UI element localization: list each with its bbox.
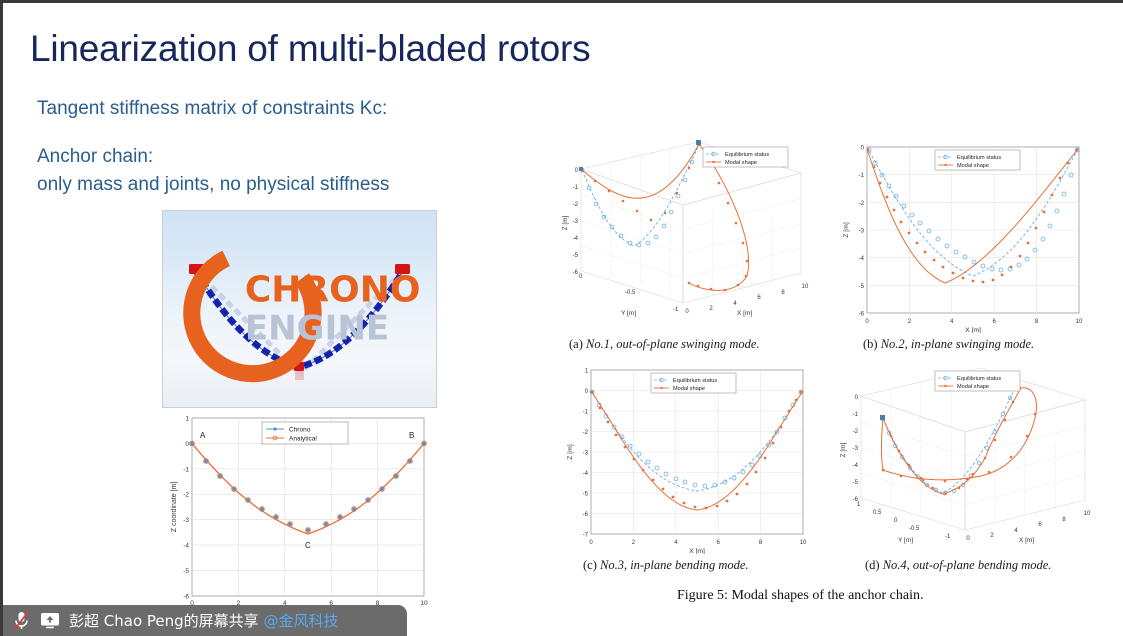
svg-text:-5: -5 [853,480,859,486]
screenshare-handle: @金风科技 [263,612,338,630]
svg-text:Chrono: Chrono [289,427,311,434]
subfigure-d-caption: (d) No.4, out-of-plane bending mode. [865,558,1051,573]
subfigure-a-legend: Equilibrium status Modal shape [703,147,788,167]
svg-text:8: 8 [1035,319,1039,325]
x-axis-label: X [m] [1019,537,1034,544]
svg-text:6: 6 [717,540,721,546]
svg-text:Equilibrium status: Equilibrium status [957,155,1001,161]
svg-text:0: 0 [685,309,689,315]
svg-text:-1: -1 [183,466,189,473]
subfigure-d-legend: Equilibrium status Modal shape [935,371,1020,391]
svg-text:2: 2 [908,319,912,325]
svg-text:0: 0 [865,319,869,325]
svg-text:6: 6 [757,295,761,301]
svg-text:-4: -4 [573,236,579,242]
svg-text:-4: -4 [853,463,859,469]
svg-text:-0.5: -0.5 [625,290,636,296]
figure-caption: Figure 5: Modal shapes of the anchor cha… [677,588,924,604]
svg-text:Equilibrium status: Equilibrium status [957,376,1001,382]
svg-text:CHRONO: CHRONO [245,270,421,311]
svg-text:Equilibrium status: Equilibrium status [725,152,769,158]
subfigure-c-caption: (c) No.3, in-plane bending mode. [583,558,749,573]
svg-text:Modal shape: Modal shape [673,386,705,392]
chrono-logo-icon: CHRONO ENGINE [169,215,437,408]
svg-text:Equilibrium status: Equilibrium status [673,378,717,384]
svg-text:2: 2 [709,306,713,312]
svg-text:-3: -3 [583,451,589,457]
subfigure-b-plot: 0-1-2 -3-4-5 -6 024 6810 X [m] Z [m] Equ… [835,133,1107,333]
x-axis-label: X [m] [965,327,981,333]
subfigure-a-caption-text: No.1, out-of-plane swinging mode. [586,337,760,351]
paragraph-anchor-chain: Anchor chain: only mass and joints, no p… [37,143,389,198]
svg-text:-5: -5 [583,492,589,498]
svg-text:-1: -1 [573,185,579,191]
svg-text:-4: -4 [859,256,865,262]
svg-text:-3: -3 [573,219,579,225]
svg-text:-2: -2 [853,429,859,435]
svg-text:-6: -6 [573,270,579,276]
svg-text:-5: -5 [573,253,579,259]
subfigure-a-plot: 0-1-2 -3-4-5 -6 Z [m] 0-0.5-1 Y [m] 024 … [559,133,821,333]
svg-text:10: 10 [1076,319,1083,325]
svg-text:-5: -5 [183,568,189,575]
subfigure-d-svg: 0-1-2 -3-4-5 -6 Z [m] 10.50 -0.5-1 Y [m]… [835,358,1113,554]
subfigure-a-tag: (a) [569,337,583,351]
svg-text:4: 4 [733,301,737,307]
svg-text:-1: -1 [945,534,951,540]
svg-text:-1: -1 [853,412,859,418]
svg-text:0: 0 [966,536,970,542]
subheading-tangent-stiffness: Tangent stiffness matrix of constraints … [37,98,387,120]
svg-text:10: 10 [802,284,809,290]
subfigure-b-caption: (b) No.2, in-plane swinging mode. [863,337,1034,352]
svg-text:4: 4 [674,540,678,546]
screenshare-label: 彭超 Chao Peng的屏幕共享 @金风科技 [69,610,338,631]
svg-text:Modal shape: Modal shape [957,384,989,390]
svg-text:-5: -5 [859,284,865,290]
screen-share-icon[interactable] [40,612,60,629]
svg-text:-3: -3 [183,517,189,524]
svg-text:Analytical: Analytical [289,436,317,443]
z-axis-label: Z [m] [840,442,847,457]
svg-text:0: 0 [575,168,579,174]
annotation-A: A [200,431,206,440]
svg-text:0: 0 [579,274,583,280]
subfigure-c-plot: 10-1 -2-3-4 -5-6-7 024 6810 X [m] Z [m] … [559,358,831,554]
svg-text:8: 8 [781,290,785,296]
svg-text:0: 0 [589,540,593,546]
svg-text:ENGINE: ENGINE [245,309,389,349]
svg-text:2: 2 [632,540,636,546]
subfigure-d-plot: 0-1-2 -3-4-5 -6 Z [m] 10.50 -0.5-1 Y [m]… [835,358,1113,554]
validation-chart-svg: A B C 10 -1-2 -3-4 -5-6 02 46 810 X coor… [162,408,452,623]
x-axis-label: X [m] [689,548,705,554]
annotation-B: B [409,431,414,440]
subfigure-a-svg: 0-1-2 -3-4-5 -6 Z [m] 0-0.5-1 Y [m] 024 … [559,133,821,333]
z-axis-label: Z [m] [562,215,569,230]
svg-text:4: 4 [950,319,954,325]
svg-text:-2: -2 [183,492,189,499]
screenshare-user: 彭超 Chao Peng的屏幕共享 [69,612,263,630]
subfigure-c-caption-text: No.3, in-plane bending mode. [600,558,749,572]
annotation-C: C [305,541,311,550]
subfigure-b-svg: 0-1-2 -3-4-5 -6 024 6810 X [m] Z [m] Equ… [835,133,1107,333]
svg-text:-7: -7 [583,533,589,539]
svg-text:-6: -6 [583,512,589,518]
y-axis-label: Y [m] [621,310,636,317]
subfigure-a-caption: (a) No.1, out-of-plane swinging mode. [569,337,760,352]
subfigure-d-tag: (d) [865,558,880,572]
subfigure-b-tag: (b) [863,337,878,351]
svg-text:-3: -3 [853,446,859,452]
subfigure-b-caption-text: No.2, in-plane swinging mode. [881,337,1034,351]
y-axis-label: Z [m] [567,444,574,460]
svg-text:Modal shape: Modal shape [725,160,757,166]
svg-text:0: 0 [185,441,189,448]
svg-text:1: 1 [585,369,589,375]
svg-text:4: 4 [1014,528,1018,534]
chrono-simulation-image: CHRONO ENGINE [162,210,437,408]
x-axis-label: X [m] [737,310,752,317]
svg-text:2: 2 [990,533,994,539]
subfigure-c-svg: 10-1 -2-3-4 -5-6-7 024 6810 X [m] Z [m] … [559,358,831,554]
subfigure-d-caption-text: No.4, out-of-plane bending mode. [883,558,1052,572]
y-axis-label: Z coordinate [m] [171,482,178,533]
chart-legend: Chrono Analytical [262,422,348,444]
zoom-screenshare-taskbar: 彭超 Chao Peng的屏幕共享 @金风科技 [3,605,407,636]
svg-text:8: 8 [1062,517,1066,523]
svg-text:-4: -4 [183,543,189,550]
svg-text:-0.5: -0.5 [909,526,920,532]
svg-text:-6: -6 [183,593,189,600]
svg-text:0.5: 0.5 [873,510,882,516]
page-title: Linearization of multi-bladed rotors [30,28,590,71]
validation-chart: A B C 10 -1-2 -3-4 -5-6 02 46 810 X coor… [162,408,452,623]
svg-text:0: 0 [894,518,898,524]
svg-text:-1: -1 [859,173,865,179]
svg-text:-1: -1 [673,307,679,313]
svg-text:-2: -2 [583,430,589,436]
svg-text:-2: -2 [573,202,579,208]
y-axis-label: Z [m] [843,222,850,238]
svg-text:-1: -1 [583,410,589,416]
subfigure-c-legend: Equilibrium status Modal shape [651,373,736,393]
svg-text:6: 6 [993,319,997,325]
microphone-muted-icon[interactable] [12,610,31,631]
svg-text:8: 8 [759,540,763,546]
svg-text:0: 0 [585,389,589,395]
slide-canvas: Linearization of multi-bladed rotors Tan… [0,0,1123,636]
svg-text:Modal shape: Modal shape [957,163,989,169]
svg-text:10: 10 [800,540,807,546]
svg-text:10: 10 [420,600,428,607]
svg-text:-3: -3 [859,229,865,235]
svg-text:0: 0 [855,395,859,401]
svg-text:6: 6 [1038,522,1042,528]
y-axis-label: Y [m] [898,537,913,544]
svg-text:-4: -4 [583,471,589,477]
svg-text:10: 10 [1084,511,1091,517]
subfigure-b-legend: Equilibrium status Modal shape [935,150,1020,170]
svg-text:0: 0 [861,146,865,152]
svg-text:-6: -6 [859,312,865,318]
subfigure-c-tag: (c) [583,558,597,572]
svg-text:1: 1 [857,502,861,508]
svg-text:-2: -2 [859,201,865,207]
svg-text:1: 1 [185,416,189,423]
